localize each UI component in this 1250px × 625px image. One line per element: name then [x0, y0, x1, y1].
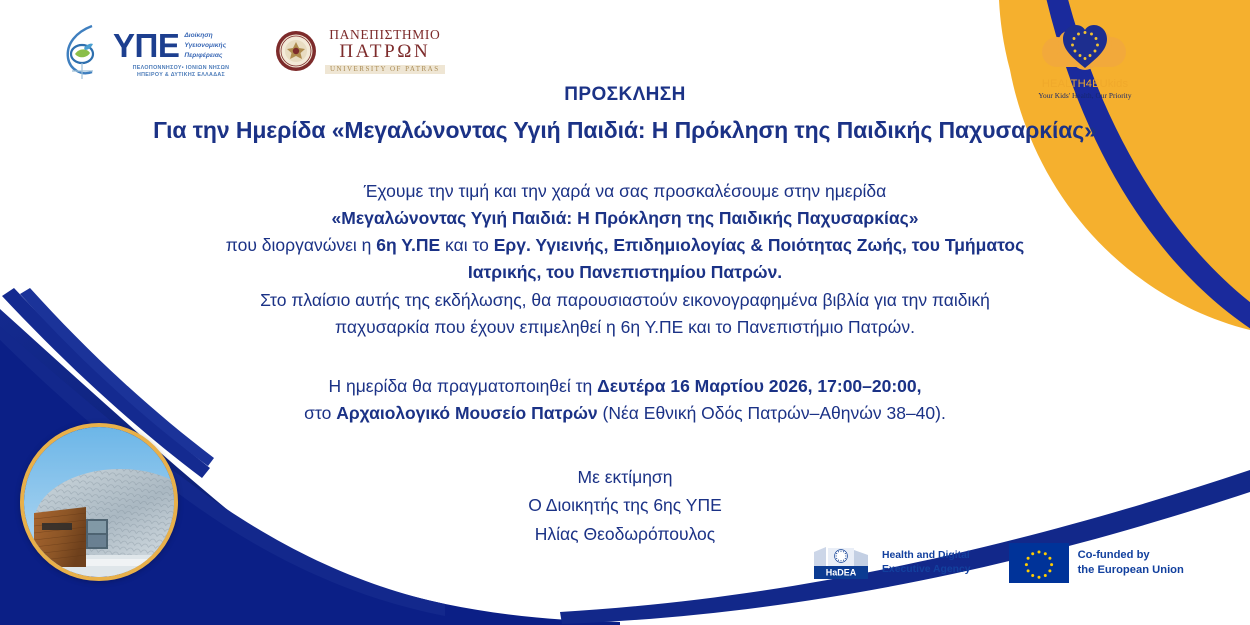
signature-closing: Με εκτίμηση [0, 463, 1250, 491]
health4eukids-logo: HEALTH4EUkids Your Kids' Health, Our Pri… [1020, 16, 1150, 100]
museum-dome-photo [24, 427, 174, 577]
health4eukids-name-part-2: kids [1108, 78, 1128, 90]
university-of-patras-logo: ΠΑΝΕΠΙΣΤΗΜΙΟ ΠΑΤΡΩΝ UNIVERSITY OF PATRAS [275, 28, 445, 74]
hadea-building-icon: HaDEA [812, 544, 874, 582]
university-wordmark: ΠΑΝΕΠΙΣΤΗΜΙΟ ΠΑΤΡΩΝ UNIVERSITY OF PATRAS [325, 28, 445, 74]
page-title: Για την Ημερίδα «Μεγαλώνοντας Υγιή Παιδι… [0, 117, 1250, 144]
signature-role: Ο Διοικητής της 6ης ΥΠΕ [0, 491, 1250, 519]
museum-photo [20, 423, 178, 581]
organizer-lab: Εργ. Υγιεινής, Επιδημιολογίας & Ποιότητα… [494, 235, 1024, 255]
university-line-2: ΠΑΤΡΩΝ [339, 42, 430, 63]
ype-wordmark: ΥΠΕ Διοίκηση Υγειονομικής Περιφέρειας ΠΕ… [113, 30, 249, 80]
health4eukids-tagline: Your Kids' Health, Our Priority [1020, 91, 1150, 100]
ype-subtitle-line-2: Υγειονομικής [184, 41, 226, 51]
venue-prefix: στο [304, 403, 336, 423]
signature-block: Με εκτίμηση Ο Διοικητής της 6ης ΥΠΕ Ηλία… [0, 463, 1250, 548]
ype-logo: ΥΠΕ Διοίκηση Υγειονομικής Περιφέρειας ΠΕ… [62, 22, 249, 80]
invitation-page: ΥΠΕ Διοίκηση Υγειονομικής Περιφέρειας ΠΕ… [0, 0, 1250, 625]
datetime-prefix: Η ημερίδα θα πραγματοποιηθεί τη [328, 376, 597, 396]
ype-acronym: ΥΠΕ [113, 30, 179, 61]
ype-subtitle-line-1: Διοίκηση [184, 31, 226, 41]
event-name-line: «Μεγαλώνοντας Υγιή Παιδιά: Η Πρόκληση τη… [0, 205, 1250, 232]
venue-name: Αρχαιολογικό Μουσείο Πατρών [336, 403, 597, 423]
organizer-ype: 6η Υ.ΠΕ [376, 235, 440, 255]
university-line-1: ΠΑΝΕΠΙΣΤΗΜΙΟ [329, 28, 440, 42]
intro-line: Έχουμε την τιμή και την χαρά να σας προσ… [0, 178, 1250, 205]
funding-logos: HaDEA Health and Digital Executive Agenc… [812, 543, 1184, 583]
ype-subtitle-line-3: Περιφέρειας [184, 51, 226, 61]
hadea-text-line-1: Health and Digital [882, 549, 971, 563]
cloud-heart-eu-stars-icon [1033, 16, 1137, 76]
university-line-3: UNIVERSITY OF PATRAS [325, 65, 445, 74]
venue-line: στο Αρχαιολογικό Μουσείο Πατρών (Νέα Εθν… [0, 400, 1250, 427]
health4eukids-name-part-1: HEALTH4EU [1042, 78, 1108, 90]
books-line-1: Στο πλαίσιο αυτής της εκδήλωσης, θα παρο… [0, 287, 1250, 314]
institutional-logos: ΥΠΕ Διοίκηση Υγειονομικής Περιφέρειας ΠΕ… [62, 22, 445, 80]
hadea-text-line-2: Executive Agency [882, 563, 971, 577]
university-seal-icon [275, 30, 317, 72]
eu-text-line-2: the European Union [1078, 563, 1184, 578]
hadea-logo: HaDEA Health and Digital Executive Agenc… [812, 544, 971, 582]
organizers-text-a: που διοργανώνει η [226, 235, 377, 255]
eu-flag-icon [1009, 543, 1069, 583]
hadea-wordmark: Health and Digital Executive Agency [882, 549, 971, 576]
organizers-line-2: Ιατρικής, του Πανεπιστημίου Πατρών. [0, 259, 1250, 286]
health4eukids-wordmark: HEALTH4EUkids [1020, 78, 1150, 90]
ype-region: ΠΕΛΟΠΟΝΝΗΣΟΥ• ΙΟΝΙΩΝ ΝΗΣΩΝ ΗΠΕΙΡΟΥ & ΔΥΤ… [113, 65, 249, 80]
ype-subtitle: Διοίκηση Υγειονομικής Περιφέρειας [184, 31, 226, 62]
eu-funding-logo: Co-funded by the European Union [1009, 543, 1184, 583]
body-block: Έχουμε την τιμή και την χαρά να σας προσ… [0, 178, 1250, 427]
eu-text-line-1: Co-funded by [1078, 548, 1184, 563]
hadea-badge-label: HaDEA [826, 568, 857, 578]
organizers-line-1: που διοργανώνει η 6η Υ.ΠΕ και το Εργ. Υγ… [0, 232, 1250, 259]
ype-region-line-2: ΗΠΕΙΡΟΥ & ΔΥΤΙΚΗΣ ΕΛΛΑΔΑΣ [113, 72, 249, 80]
venue-address: (Νέα Εθνική Οδός Πατρών–Αθηνών 38–40). [598, 403, 946, 423]
eu-funding-wordmark: Co-funded by the European Union [1078, 548, 1184, 577]
datetime-value: Δευτέρα 16 Μαρτίου 2026, 17:00–20:00, [597, 376, 921, 396]
datetime-line: Η ημερίδα θα πραγματοποιηθεί τη Δευτέρα … [0, 373, 1250, 400]
books-line-2: παχυσαρκία που έχουν επιμεληθεί η 6η Υ.Π… [0, 314, 1250, 341]
organizers-text-c: και το [440, 235, 494, 255]
ype-swoosh-fish-icon [62, 22, 108, 80]
ype-region-line-1: ΠΕΛΟΠΟΝΝΗΣΟΥ• ΙΟΝΙΩΝ ΝΗΣΩΝ [113, 65, 249, 73]
